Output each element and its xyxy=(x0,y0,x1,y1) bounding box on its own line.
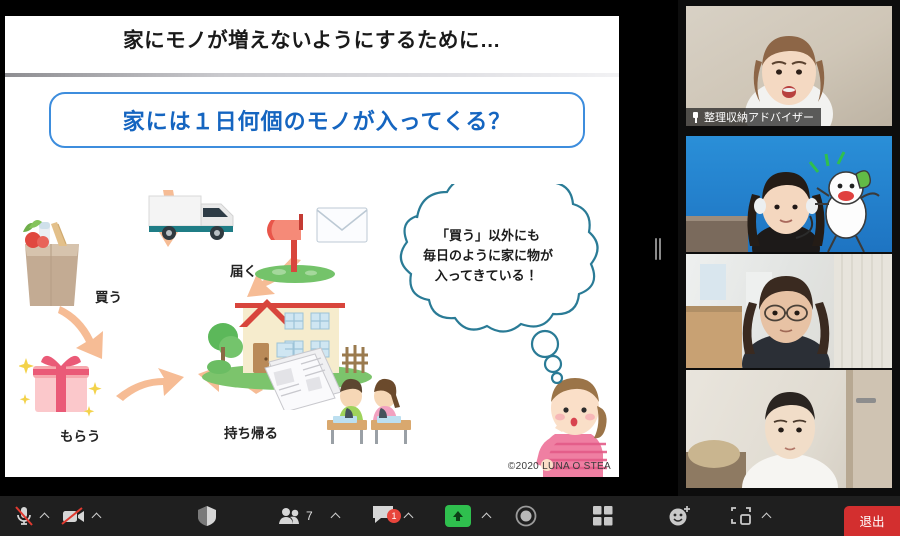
participants-button[interactable]: 7 xyxy=(278,496,313,536)
participant-tile-2[interactable] xyxy=(686,136,892,252)
chevron-up-icon xyxy=(92,511,102,521)
participant-video-2 xyxy=(686,136,892,252)
microphone-muted-icon xyxy=(12,504,36,528)
slide-copyright: ©2020 LUNA O STEA xyxy=(508,461,611,472)
question-callout-box: 家には１日何個のモノが入ってくる？ xyxy=(49,92,585,148)
chat-button[interactable]: 1 xyxy=(371,496,395,536)
presentation-slide: 家にモノが増えないようにするために… 家には１日何個のモノが入ってくる？ xyxy=(5,16,619,477)
school-children-illustration xyxy=(323,374,415,446)
apps-grid-icon xyxy=(592,505,614,527)
record-icon xyxy=(515,505,537,527)
chevron-up-icon xyxy=(762,511,772,521)
breakout-options-caret[interactable] xyxy=(762,496,772,536)
video-button[interactable] xyxy=(60,496,86,536)
breakout-rooms-button[interactable] xyxy=(730,496,752,536)
question-text: 家には１日何個のモノが入ってくる？ xyxy=(123,104,512,136)
participant-tile-3[interactable] xyxy=(686,254,892,368)
thought-bubble-text: 「買う」以外にも 毎日のように家に物が 入ってきている ！ xyxy=(375,226,601,286)
participants-options-caret[interactable] xyxy=(331,496,341,536)
label-deliver: 届く xyxy=(230,260,257,280)
leave-meeting-button[interactable]: 退出 xyxy=(844,506,900,536)
participant-name-label-1: 整理収納アドバイザー xyxy=(686,108,821,126)
participant-video-4 xyxy=(686,370,892,488)
thought-bubble: 「買う」以外にも 毎日のように家に物が 入ってきている ！ xyxy=(357,184,619,384)
video-options-caret[interactable] xyxy=(92,496,102,536)
label-buy: 買う xyxy=(95,286,122,306)
chevron-up-icon xyxy=(331,511,341,521)
participant-video-3 xyxy=(686,254,892,368)
gift-box-illustration xyxy=(19,346,103,418)
mute-options-caret[interactable] xyxy=(40,496,50,536)
participant-filmstrip: 整理収納アドバイザー xyxy=(678,0,900,496)
chevron-up-icon xyxy=(404,511,414,521)
shield-icon xyxy=(196,504,218,528)
reactions-smiley-icon xyxy=(668,505,692,527)
record-button[interactable] xyxy=(515,496,537,536)
mute-button[interactable] xyxy=(12,496,36,536)
label-bring-home: 持ち帰る xyxy=(224,422,278,442)
apps-button[interactable] xyxy=(592,496,614,536)
chat-options-caret[interactable] xyxy=(404,496,414,536)
share-options-caret[interactable] xyxy=(482,496,492,536)
participant-tile-1[interactable]: 整理収納アドバイザー xyxy=(686,6,892,126)
breakout-rooms-icon xyxy=(730,505,752,527)
share-screen-button[interactable] xyxy=(445,496,471,536)
label-receive: もらう xyxy=(60,425,101,445)
participants-icon xyxy=(278,506,302,526)
meeting-toolbar: 7 1 xyxy=(0,496,900,536)
grocery-bag-illustration xyxy=(17,214,87,309)
chevron-up-icon xyxy=(482,511,492,521)
chevron-up-icon xyxy=(40,511,50,521)
participants-count: 7 xyxy=(306,509,313,523)
participant-tile-4[interactable] xyxy=(686,370,892,488)
share-screen-icon xyxy=(445,505,471,527)
zoom-meeting-window: 家にモノが増えないようにするために… 家には１日何個のモノが入ってくる？ xyxy=(0,0,900,536)
title-divider xyxy=(5,73,619,77)
camera-stopped-icon xyxy=(60,504,86,528)
view-splitter-handle[interactable] xyxy=(654,238,662,260)
security-button[interactable] xyxy=(196,496,218,536)
chat-unread-badge: 1 xyxy=(387,509,401,523)
delivery-truck-illustration xyxy=(145,186,243,248)
reactions-button[interactable] xyxy=(668,496,692,536)
pin-icon xyxy=(691,112,700,123)
slide-title: 家にモノが増えないようにするために… xyxy=(5,16,619,59)
shared-screen-stage[interactable]: 家にモノが増えないようにするために… 家には１日何個のモノが入ってくる？ xyxy=(0,0,678,496)
